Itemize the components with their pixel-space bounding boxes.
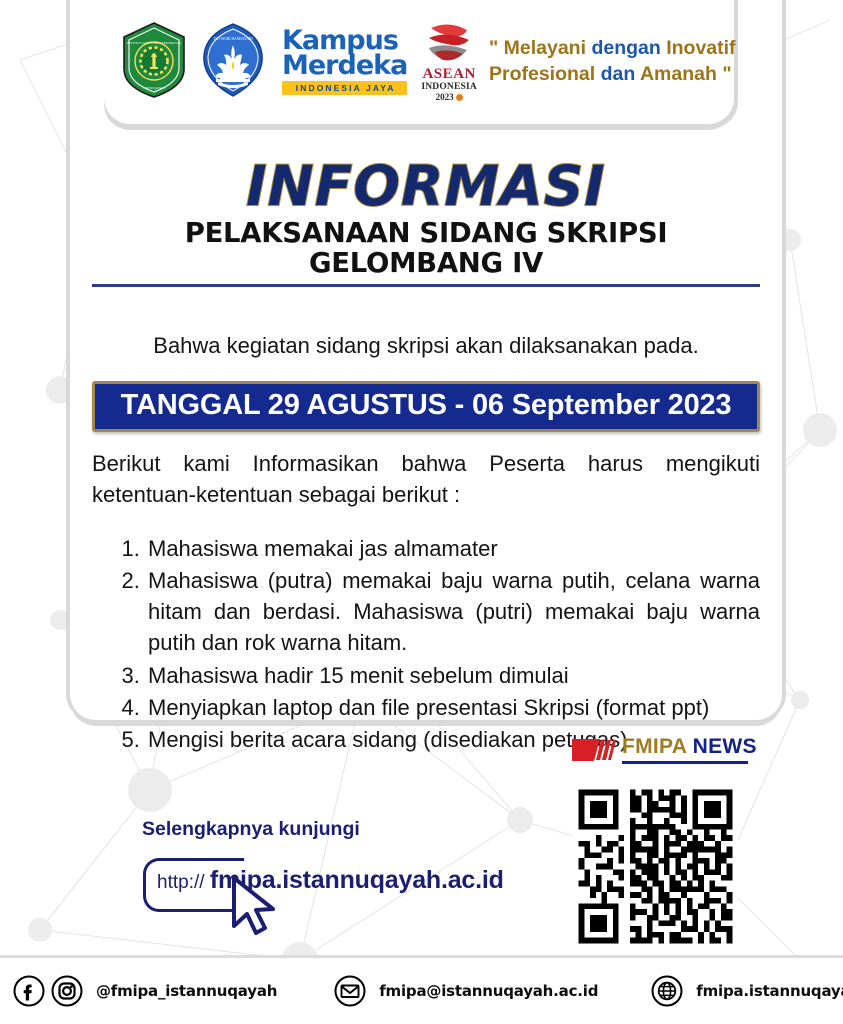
kampus-merdeka-wordmark: Kampus Merdeka INDONESIA JAYA — [282, 29, 407, 95]
list-item: Mahasiswa memakai jas almamater — [146, 533, 760, 564]
list-item: Mahasiswa hadir 15 menit sebelum dimulai — [146, 660, 760, 691]
email-icon[interactable] — [333, 974, 367, 1008]
asean-year-label: 2023 — [421, 93, 477, 103]
page-subtitle-wrap: PELAKSANAAN SIDANG SKRIPSI GELOMBANG IV — [92, 218, 760, 288]
website-url[interactable]: http:// fmipa.istannuqayah.ac.id — [157, 866, 504, 895]
globe-icon[interactable] — [650, 974, 684, 1008]
footer-social-group[interactable]: @fmipa_istannuqayah — [12, 974, 277, 1008]
visit-label: Selengkapnya kunjungi — [142, 818, 360, 841]
fmipa-news-badge: FMIPA NEWS — [570, 736, 757, 764]
lead-text: Bahwa kegiatan sidang skripsi akan dilak… — [92, 333, 760, 359]
header-tagline: " Melayani dengan Inovatif Profesional d… — [489, 36, 736, 87]
institut-sains-teknologi-annuqayah-logo: INSTITUT SAINS DAN TEKNOLOGI ANNUQAYAH — [120, 21, 188, 104]
tagline-word-profesional: Profesional — [489, 63, 595, 85]
kampus-merdeka-ribbon: INDONESIA JAYA — [282, 81, 407, 95]
fmipa-news-text-wrap: FMIPA NEWS — [622, 736, 757, 764]
tagline-close-quote: " — [722, 63, 731, 85]
svg-text:TUT WURI HANDAYANI: TUT WURI HANDAYANI — [213, 37, 253, 41]
footer-website-url: fmipa.istannuqayah.ac.id — [696, 982, 843, 1000]
footer-email-group[interactable]: fmipa@istannuqayah.ac.id — [333, 974, 598, 1008]
tagline-open-quote: " — [489, 37, 498, 59]
asean-year-text: 2023 — [436, 92, 454, 102]
tagline-word-melayani: Melayani — [504, 37, 586, 59]
tagline-word-dengan: dengan — [591, 37, 660, 59]
svg-text:ANNUQAYAH: ANNUQAYAH — [143, 86, 165, 90]
asean-logo-mark — [423, 22, 475, 66]
mouse-cursor-icon — [228, 876, 282, 938]
tagline-word-inovatif: Inovatif — [666, 37, 735, 59]
page-subtitle: PELAKSANAAN SIDANG SKRIPSI GELOMBANG IV — [92, 218, 760, 288]
footer-social-handle: @fmipa_istannuqayah — [96, 982, 277, 1000]
facebook-icon[interactable] — [12, 974, 46, 1008]
footer-website-group[interactable]: fmipa.istannuqayah.ac.id — [650, 974, 843, 1008]
fmipa-news-underline — [622, 761, 748, 764]
tagline-word-amanah: Amanah — [640, 63, 717, 85]
kemdikbud-tut-wuri-handayani-logo: TUT WURI HANDAYANI — [198, 21, 268, 104]
footer-bar: @fmipa_istannuqayah fmipa@istannuqayah.a… — [0, 955, 843, 1024]
svg-text:INSTITUT SAINS DAN TEKNOLOGI: INSTITUT SAINS DAN TEKNOLOGI — [127, 41, 182, 45]
body-paragraph: Berikut kami Informasikan bahwa Peserta … — [92, 448, 760, 510]
qr-code[interactable] — [573, 784, 738, 949]
page-title: INFORMASI — [92, 158, 760, 216]
kampus-merdeka-line2: Merdeka — [282, 54, 407, 79]
tagline-word-dan: dan — [601, 63, 636, 85]
asean-dot-icon — [456, 94, 463, 101]
asean-label: ASEAN — [421, 67, 477, 82]
header-logo-panel: INSTITUT SAINS DAN TEKNOLOGI ANNUQAYAH T… — [104, 0, 734, 124]
asean-indonesia-2023-logo: ASEAN INDONESIA 2023 — [421, 22, 477, 103]
date-banner: TANGGAL 29 AGUSTUS - 06 September 2023 — [92, 381, 760, 432]
fmipa-news-logo-icon — [570, 737, 616, 763]
announcement-content: INFORMASI PELAKSANAAN SIDANG SKRIPSI GEL… — [70, 140, 782, 756]
instagram-icon[interactable] — [50, 974, 84, 1008]
footer-email-address: fmipa@istannuqayah.ac.id — [379, 982, 598, 1000]
list-item: Menyiapkan laptop dan file presentasi Sk… — [146, 692, 760, 723]
list-item: Mahasiswa (putra) memakai baju warna put… — [146, 565, 760, 659]
fmipa-word: FMIPA — [622, 735, 687, 758]
news-word: NEWS — [693, 735, 757, 758]
url-scheme: http:// — [157, 872, 210, 893]
rules-list: Mahasiswa memakai jas almamater Mahasisw… — [92, 533, 760, 756]
